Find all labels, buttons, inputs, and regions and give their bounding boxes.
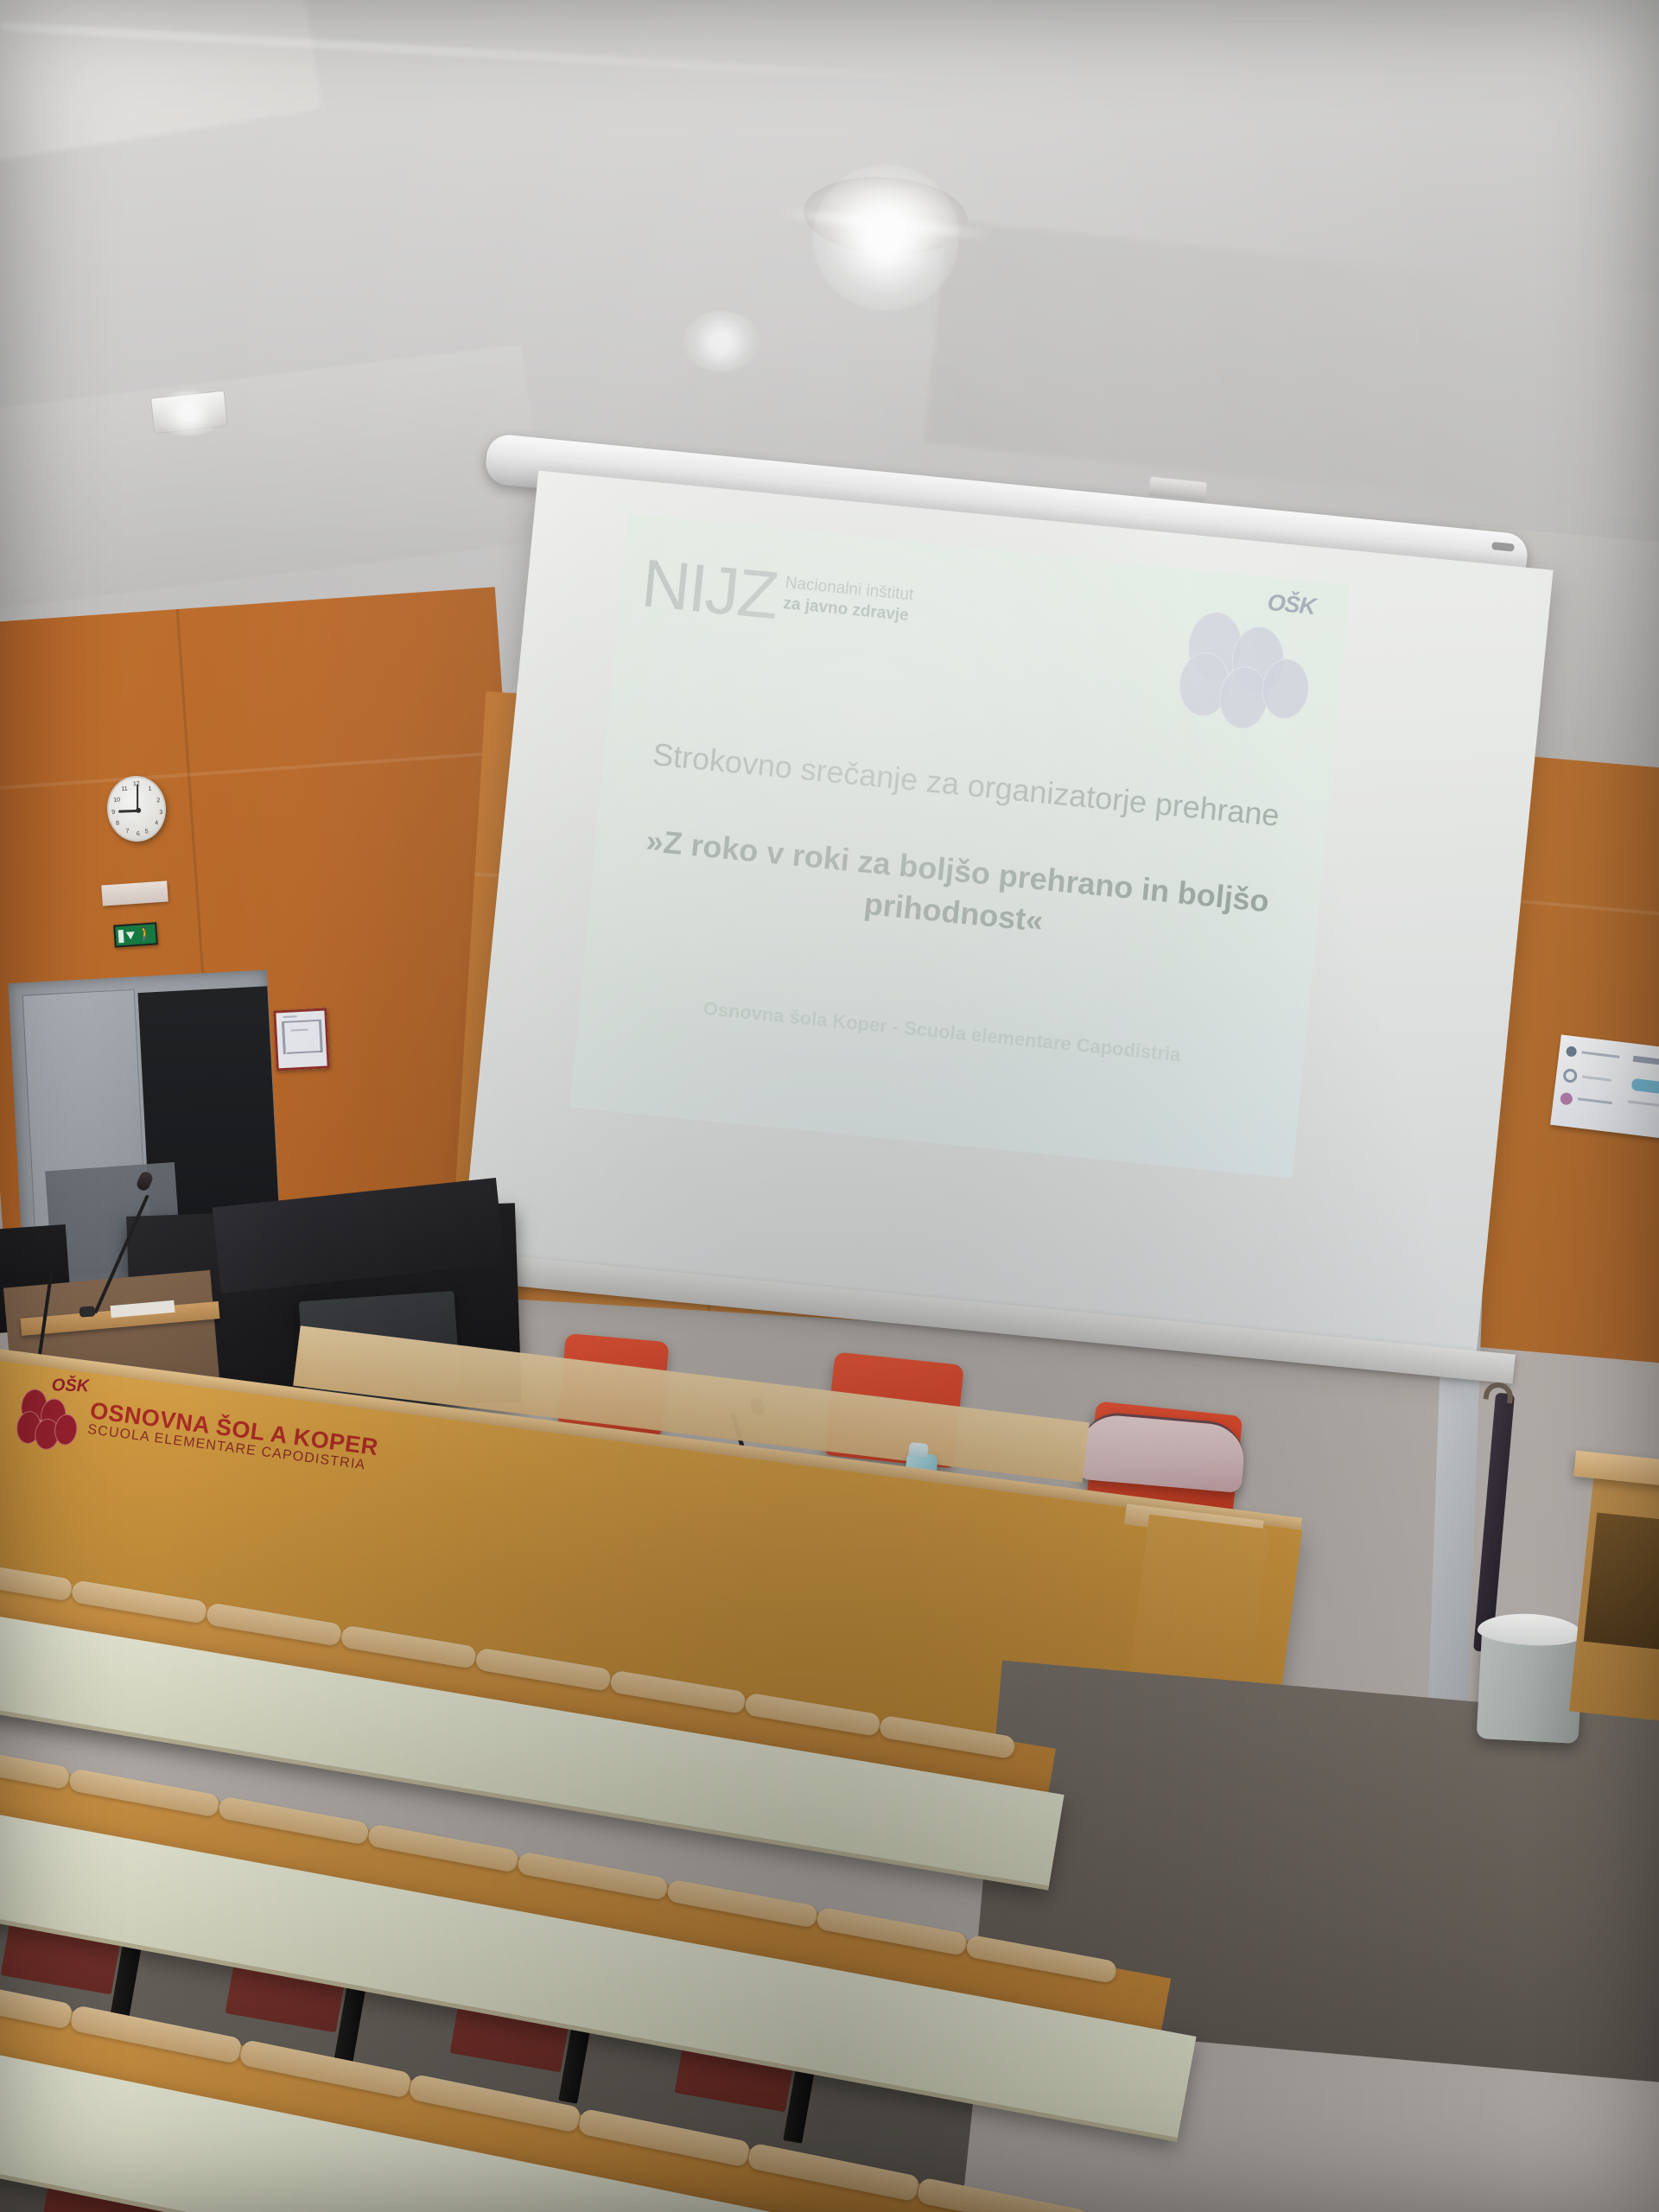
spotlight-main-icon [812,164,959,311]
umbrella [1473,1393,1515,1653]
banner-text: OSNOVNA ŠOL A KOPER SCUOLA ELEMENTARE CA… [86,1399,379,1475]
presentation-slide: NIJZ Nacionalni inštitut za javno zdravj… [569,514,1350,1179]
wall-poster-right [1550,1034,1659,1138]
osk-slide-logo: OŠK [1176,585,1326,728]
osk-slide-wordmark: OŠK [1266,589,1316,620]
evacuation-plan-poster [273,1007,330,1071]
osk-logo-wordmark: OŠK [51,1376,89,1396]
clock-hour-hand [118,810,137,813]
microphone-base [79,1306,96,1317]
spotlight-secondary-icon [683,311,760,372]
lecture-hall-photo: NIJZ Nacionalni inštitut za javno zdravj… [0,0,1659,2212]
headrest [916,2177,1090,2212]
water-bottle-cap [908,1442,928,1458]
side-table-shadow [1584,1512,1659,1658]
osk-logo-icon: OŠK [15,1374,86,1452]
nijz-wordmark: NIJZ [639,552,780,626]
nijz-logo: NIJZ Nacionalni inštitut za javno zdravj… [639,552,780,626]
nijz-subtitle: Nacionalni inštitut za javno zdravje [782,573,1001,636]
projection-screen: NIJZ Nacionalni inštitut za javno zdravj… [460,471,1553,1370]
slide-quote: »Z roko v roki za boljšo prehrano in bol… [630,819,1281,965]
slide-footer: Osnovna šola Koper - Scuola elementare C… [620,989,1265,1075]
slide-title: Strokovno srečanje za organizatorje preh… [642,733,1289,837]
spotlight-recessed-left-glow [154,391,223,435]
emergency-exit-sign-icon: 🚶 [113,922,158,947]
clock-minute-hand [137,785,138,810]
